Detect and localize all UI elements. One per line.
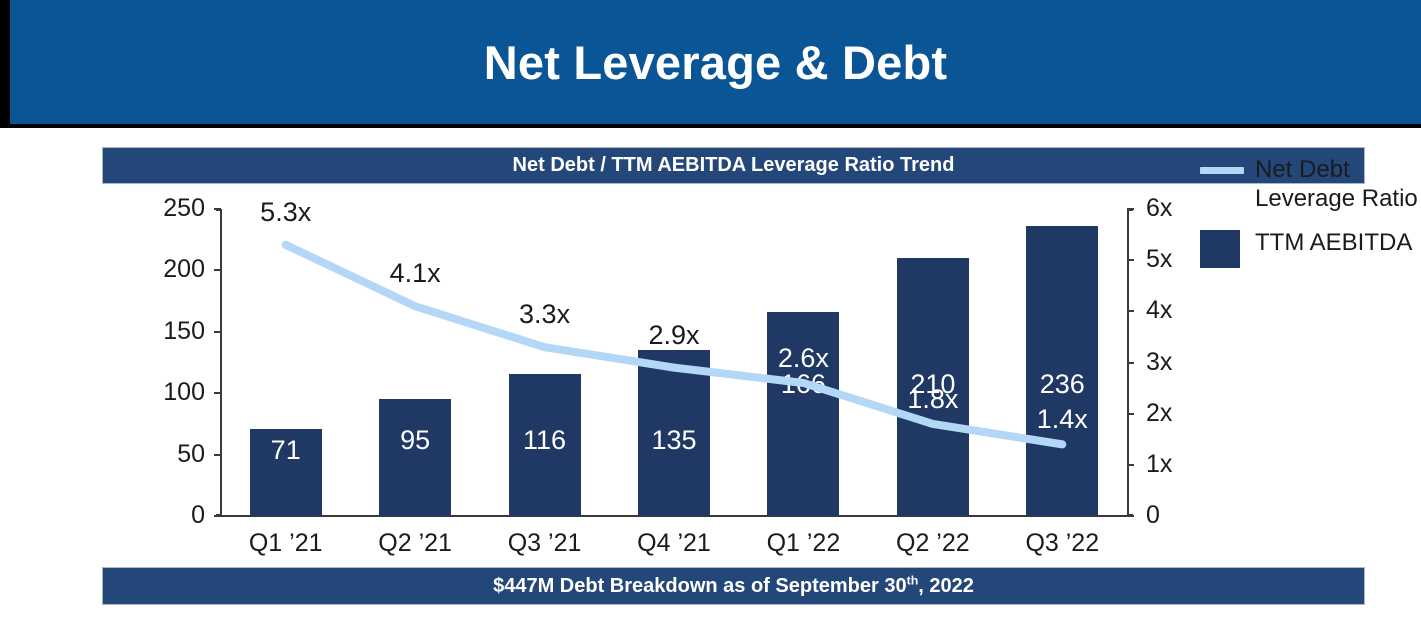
y-axis-right-tick [1127, 464, 1134, 466]
bar-value-label: 166 [767, 371, 839, 398]
debt-breakdown-superscript: th [907, 573, 919, 587]
chart-title-text: Net Debt / TTM AEBITDA Leverage Ratio Tr… [513, 154, 955, 177]
y-axis-left-tick [214, 454, 221, 456]
y-axis-right-tick [1127, 362, 1134, 364]
line-swatch-icon [1200, 167, 1244, 174]
legend-label-line1: Net Debt [1255, 156, 1350, 183]
x-axis-label: Q3 ’22 [997, 531, 1127, 556]
slide-header-band: Net Leverage & Debt [10, 0, 1421, 124]
legend-item-ttm-aebitda[interactable]: TTM AEBITDA [1200, 228, 1421, 268]
y-axis-right-tick [1127, 310, 1134, 312]
debt-breakdown-text: $447M Debt Breakdown as of September 30t… [493, 575, 974, 598]
y-axis-left-tick-label: 200 [163, 257, 205, 282]
ratio-data-label: 1.4x [997, 406, 1127, 433]
y-axis-left-tick-label: 50 [177, 442, 205, 467]
y-axis-right-tick-label: 3x [1146, 350, 1172, 375]
bar[interactable]: 95 [379, 399, 451, 516]
y-axis-right-tick-label: 2x [1146, 401, 1172, 426]
bar[interactable]: 116 [509, 374, 581, 516]
x-axis-label: Q2 ’21 [350, 531, 480, 556]
page-title: Net Leverage & Debt [484, 39, 948, 86]
debt-breakdown-text-after: , 2022 [918, 575, 974, 597]
legend-label-net-debt-leverage-ratio: Net Debt Leverage Ratio [1255, 155, 1418, 214]
y-axis-right-tick-label: 0 [1146, 503, 1160, 528]
slide-header: Net Leverage & Debt [0, 0, 1421, 128]
x-axis-label: Q1 ’22 [738, 531, 868, 556]
y-axis-left-tick-label: 150 [163, 319, 205, 344]
bar[interactable]: 135 [638, 350, 710, 516]
y-axis-left-spine [216, 209, 222, 516]
y-axis-right-tick [1127, 515, 1134, 517]
legend-label-line2: Leverage Ratio [1255, 185, 1418, 212]
x-axis-label: Q2 ’22 [868, 531, 998, 556]
y-axis-right-tick [1127, 413, 1134, 415]
y-axis-left-tick-label: 0 [191, 503, 205, 528]
ratio-data-label: 5.3x [221, 199, 351, 226]
y-axis-right-tick-label: 5x [1146, 247, 1172, 272]
ratio-data-label: 1.8x [868, 386, 998, 413]
debt-breakdown-text-before: $447M Debt Breakdown as of September 30 [493, 575, 906, 597]
bar-value-label: 236 [1026, 371, 1098, 398]
y-axis-left-tick-label: 250 [163, 196, 205, 221]
bar-value-label: 135 [638, 427, 710, 454]
bar-value-label: 95 [379, 427, 451, 454]
ratio-data-label: 2.9x [609, 322, 739, 349]
y-axis-right-tick-label: 6x [1146, 196, 1172, 221]
y-axis-left-tick [214, 515, 221, 517]
y-axis-left-tick-label: 100 [163, 380, 205, 405]
chart-title-bar: Net Debt / TTM AEBITDA Leverage Ratio Tr… [102, 147, 1365, 184]
legend-label-ttm-aebitda: TTM AEBITDA [1255, 228, 1412, 257]
chart-legend: Net Debt Leverage Ratio TTM AEBITDA [1200, 155, 1421, 282]
bar-value-label: 71 [250, 437, 322, 464]
x-axis-label: Q4 ’21 [609, 531, 739, 556]
y-axis-left-tick [214, 331, 221, 333]
y-axis-right-tick [1127, 259, 1134, 261]
bar-value-label: 116 [509, 427, 581, 454]
bar[interactable]: 71 [250, 429, 322, 516]
ratio-data-label: 4.1x [350, 260, 480, 287]
y-axis-right-tick-label: 4x [1146, 298, 1172, 323]
y-axis-left-tick [214, 269, 221, 271]
ratio-data-label: 2.6x [738, 345, 868, 372]
square-swatch-icon [1200, 230, 1240, 268]
y-axis-right-tick [1127, 208, 1134, 210]
y-axis-right-tick-label: 1x [1146, 452, 1172, 477]
y-axis-left-tick [214, 392, 221, 394]
legend-item-net-debt-leverage-ratio[interactable]: Net Debt Leverage Ratio [1200, 155, 1421, 214]
debt-breakdown-bar: $447M Debt Breakdown as of September 30t… [102, 567, 1365, 605]
x-axis-label: Q1 ’21 [221, 531, 351, 556]
bar[interactable]: 236 [1026, 226, 1098, 516]
ratio-data-label: 3.3x [480, 301, 610, 328]
x-axis-label: Q3 ’21 [480, 531, 610, 556]
